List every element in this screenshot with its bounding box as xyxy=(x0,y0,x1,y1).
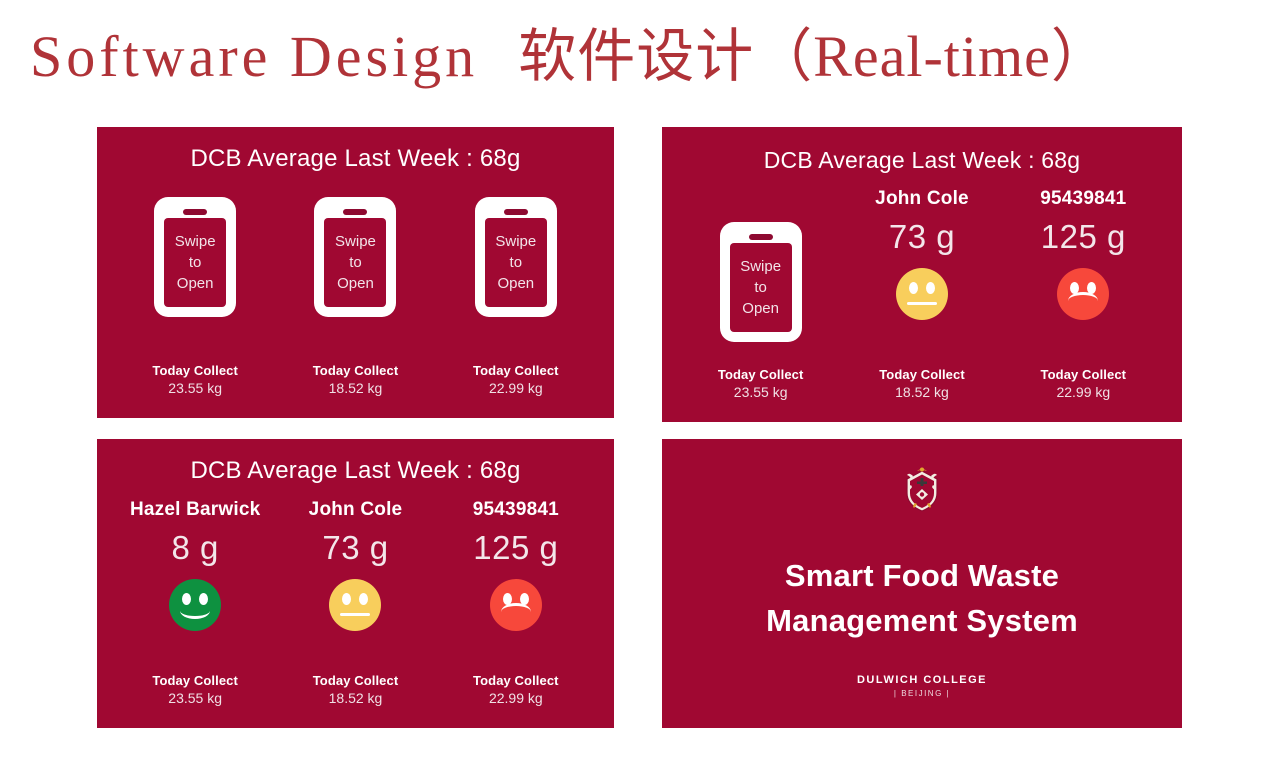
today-collect-label: Today Collect xyxy=(115,363,275,378)
cover-title-line-2: Management System xyxy=(766,598,1078,643)
phone-speaker-icon xyxy=(749,234,773,240)
swipe-line-1: Swipe xyxy=(335,231,376,252)
person-name: John Cole xyxy=(875,188,969,210)
person-name: John Cole xyxy=(309,499,403,521)
person-column[interactable]: 95439841 125 g xyxy=(436,499,596,631)
phone-speaker-icon xyxy=(343,209,367,215)
swipe-line-2: to xyxy=(189,252,202,273)
weight-value: 73 g xyxy=(322,529,388,567)
swipe-line-1: Swipe xyxy=(175,231,216,252)
weight-value: 125 g xyxy=(1041,218,1126,256)
panel-header: DCB Average Last Week : 68g xyxy=(662,147,1182,174)
school-campus: | BEIJING | xyxy=(662,689,1182,698)
swipe-line-3: Open xyxy=(337,273,374,294)
person-name: Hazel Barwick xyxy=(130,499,260,521)
stat-column: Today Collect 22.99 kg xyxy=(436,363,596,396)
weight-value: 73 g xyxy=(889,218,955,256)
stat-column: Today Collect 23.55 kg xyxy=(115,363,275,396)
stat-column: Today Collect 18.52 kg xyxy=(275,673,435,706)
today-collect-label: Today Collect xyxy=(436,363,596,378)
device-column[interactable]: Swipe to Open xyxy=(680,188,841,342)
phone-device-icon[interactable]: Swipe to Open xyxy=(475,197,557,317)
eye-right xyxy=(359,593,368,605)
swipe-line-3: Open xyxy=(742,298,779,319)
stat-column: Today Collect 22.99 kg xyxy=(1003,367,1164,400)
person-name: 95439841 xyxy=(473,499,559,521)
phone-screen[interactable]: Swipe to Open xyxy=(164,218,226,307)
weight-value: 8 g xyxy=(171,529,218,567)
mouth-neutral xyxy=(340,613,370,616)
phone-screen[interactable]: Swipe to Open xyxy=(730,243,792,332)
today-collect-value: 22.99 kg xyxy=(436,380,596,396)
phone-speaker-icon xyxy=(504,209,528,215)
face-sad-icon xyxy=(1057,268,1109,320)
cover-title: Smart Food Waste Management System xyxy=(766,553,1078,643)
person-column[interactable]: John Cole 73 g xyxy=(275,499,435,631)
page-title-chinese: 软件设计（Real-time） xyxy=(518,24,1110,89)
device-column[interactable]: Swipe to Open xyxy=(436,197,596,317)
today-collect-value: 22.99 kg xyxy=(436,690,596,706)
panel-footer-stats: Today Collect 23.55 kg Today Collect 18.… xyxy=(97,363,614,396)
mouth-frown xyxy=(501,603,531,619)
stat-column: Today Collect 22.99 kg xyxy=(436,673,596,706)
face-sad-icon xyxy=(490,579,542,631)
today-collect-label: Today Collect xyxy=(1003,367,1164,382)
today-collect-value: 18.52 kg xyxy=(841,384,1002,400)
today-collect-label: Today Collect xyxy=(680,367,841,382)
panel-partial-unlocked[interactable]: DCB Average Last Week : 68g Swipe to Ope… xyxy=(662,127,1182,422)
eye-right xyxy=(926,282,935,294)
today-collect-label: Today Collect xyxy=(115,673,275,688)
panel-footer-stats: Today Collect 23.55 kg Today Collect 18.… xyxy=(97,673,614,706)
page-title-english: Software Design xyxy=(30,24,478,89)
today-collect-label: Today Collect xyxy=(436,673,596,688)
face-happy-icon xyxy=(169,579,221,631)
today-collect-value: 22.99 kg xyxy=(1003,384,1164,400)
eye-left xyxy=(342,593,351,605)
face-neutral-icon xyxy=(896,268,948,320)
person-column[interactable]: Hazel Barwick 8 g xyxy=(115,499,275,631)
panel-locked-three-phones[interactable]: DCB Average Last Week : 68g Swipe to Ope… xyxy=(97,127,614,418)
panel-grid: DCB Average Last Week : 68g Swipe to Ope… xyxy=(97,127,1182,728)
today-collect-value: 23.55 kg xyxy=(115,380,275,396)
device-column[interactable]: Swipe to Open xyxy=(115,197,275,317)
school-branding: DULWICH COLLEGE | BEIJING | xyxy=(662,674,1182,698)
person-column[interactable]: John Cole 73 g xyxy=(841,188,1002,320)
swipe-line-1: Swipe xyxy=(495,231,536,252)
swipe-line-3: Open xyxy=(177,273,214,294)
face-neutral-icon xyxy=(329,579,381,631)
phone-device-icon[interactable]: Swipe to Open xyxy=(314,197,396,317)
today-collect-label: Today Collect xyxy=(841,367,1002,382)
today-collect-value: 23.55 kg xyxy=(115,690,275,706)
school-name: DULWICH COLLEGE xyxy=(662,674,1182,686)
today-collect-value: 18.52 kg xyxy=(275,380,435,396)
today-collect-value: 18.52 kg xyxy=(275,690,435,706)
swipe-line-2: to xyxy=(754,277,767,298)
stat-column: Today Collect 18.52 kg xyxy=(841,367,1002,400)
panel-cover[interactable]: Smart Food Waste Management System DULWI… xyxy=(662,439,1182,728)
page-title: Software Design软件设计（Real-time） xyxy=(30,20,1110,94)
swipe-line-2: to xyxy=(349,252,362,273)
phone-device-icon[interactable]: Swipe to Open xyxy=(720,222,802,342)
today-collect-label: Today Collect xyxy=(275,673,435,688)
panel-footer-stats: Today Collect 23.55 kg Today Collect 18.… xyxy=(662,367,1182,400)
weight-value: 125 g xyxy=(473,529,558,567)
mouth-neutral xyxy=(907,302,937,305)
mouth-smile xyxy=(180,603,210,619)
swipe-line-2: to xyxy=(510,252,523,273)
stat-column: Today Collect 23.55 kg xyxy=(680,367,841,400)
person-name: 95439841 xyxy=(1040,188,1126,210)
dulwich-crest-icon xyxy=(901,465,943,513)
phone-screen[interactable]: Swipe to Open xyxy=(324,218,386,307)
swipe-line-1: Swipe xyxy=(740,256,781,277)
mouth-frown xyxy=(1068,292,1098,308)
person-column[interactable]: 95439841 125 g xyxy=(1003,188,1164,320)
stat-column: Today Collect 18.52 kg xyxy=(275,363,435,396)
today-collect-label: Today Collect xyxy=(275,363,435,378)
eye-left xyxy=(909,282,918,294)
today-collect-value: 23.55 kg xyxy=(680,384,841,400)
phone-screen[interactable]: Swipe to Open xyxy=(485,218,547,307)
stat-column: Today Collect 23.55 kg xyxy=(115,673,275,706)
cover-title-line-1: Smart Food Waste xyxy=(766,553,1078,598)
panel-all-unlocked[interactable]: DCB Average Last Week : 68g Hazel Barwic… xyxy=(97,439,614,728)
panel-header: DCB Average Last Week : 68g xyxy=(97,457,614,485)
swipe-line-3: Open xyxy=(497,273,534,294)
phone-device-icon[interactable]: Swipe to Open xyxy=(154,197,236,317)
phone-speaker-icon xyxy=(183,209,207,215)
panel-header: DCB Average Last Week : 68g xyxy=(97,145,614,173)
device-column[interactable]: Swipe to Open xyxy=(275,197,435,317)
